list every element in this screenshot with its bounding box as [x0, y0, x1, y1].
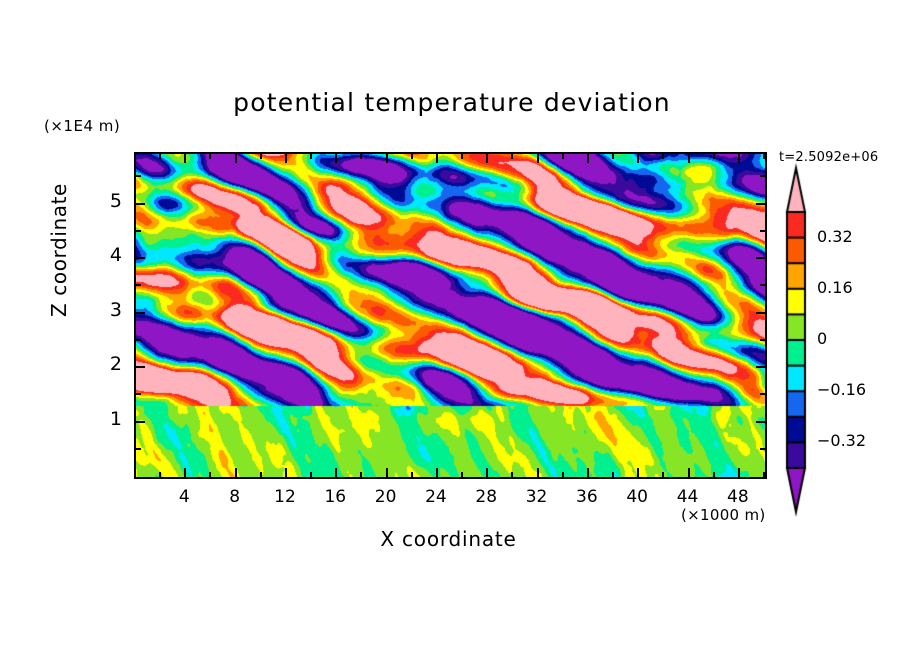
- colorbar-tick-label: −0.16: [817, 380, 866, 399]
- colorbar-tick-label: 0.32: [817, 227, 853, 246]
- colorbar-tick-label: 0.16: [817, 278, 853, 297]
- colorbar-tick-labels: 0.320.160−0.16−0.32: [0, 0, 904, 654]
- colorbar-tick-label: −0.32: [817, 431, 866, 450]
- colorbar-tick-label: 0: [817, 329, 827, 348]
